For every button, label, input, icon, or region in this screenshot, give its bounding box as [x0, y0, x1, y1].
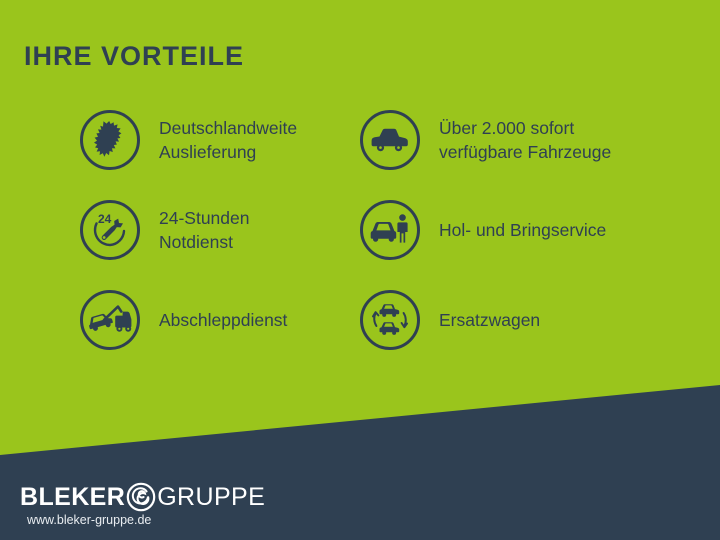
24-badge-text: 24	[98, 212, 112, 226]
benefit-item-label: Ersatzwagen	[439, 308, 540, 333]
footer-logo: BLEKER GRUPPE	[20, 482, 265, 512]
spiral-circle-logo-icon	[126, 482, 156, 512]
24-hour-wrench-icon: 24	[89, 209, 131, 251]
replacement-car-icon	[369, 299, 411, 341]
car-with-person-icon	[369, 212, 411, 248]
footer-url: www.bleker-gruppe.de	[27, 513, 151, 527]
car-icon	[370, 127, 410, 153]
icon-circle	[360, 110, 420, 170]
icon-circle	[360, 200, 420, 260]
benefit-item-24-stunden-notdienst: 24 24-Stunden Notdienst	[80, 200, 250, 260]
icon-circle	[360, 290, 420, 350]
icon-circle	[80, 110, 140, 170]
benefit-item-deutschlandweite-auslieferung: Deutschlandweite Auslieferung	[80, 110, 297, 170]
benefit-item-ersatzwagen: Ersatzwagen	[360, 290, 540, 350]
icon-circle	[80, 290, 140, 350]
page-title: IHRE VORTEILE	[24, 41, 244, 72]
logo-word-gruppe: GRUPPE	[157, 485, 265, 510]
logo-word-bleker: BLEKER	[20, 485, 125, 510]
green-background-panel	[0, 0, 720, 540]
benefit-item-label: Deutschlandweite Auslieferung	[159, 116, 297, 165]
benefit-item-label: Hol- und Bringservice	[439, 218, 606, 243]
benefit-item-label: Abschleppdienst	[159, 308, 287, 333]
benefit-item-hol-und-bringservice: Hol- und Bringservice	[360, 200, 606, 260]
tow-truck-icon	[88, 302, 132, 338]
benefit-item-abschleppdienst: Abschleppdienst	[80, 290, 287, 350]
slide-canvas: IHRE VORTEILE Deutschlandweite Ausliefer…	[0, 0, 720, 540]
benefit-item-label: Über 2.000 sofort verfügbare Fahrzeuge	[439, 116, 611, 165]
icon-circle: 24	[80, 200, 140, 260]
germany-map-icon	[91, 120, 129, 160]
benefit-item-label: 24-Stunden Notdienst	[159, 206, 250, 255]
benefit-item-verfuegbare-fahrzeuge: Über 2.000 sofort verfügbare Fahrzeuge	[360, 110, 611, 170]
